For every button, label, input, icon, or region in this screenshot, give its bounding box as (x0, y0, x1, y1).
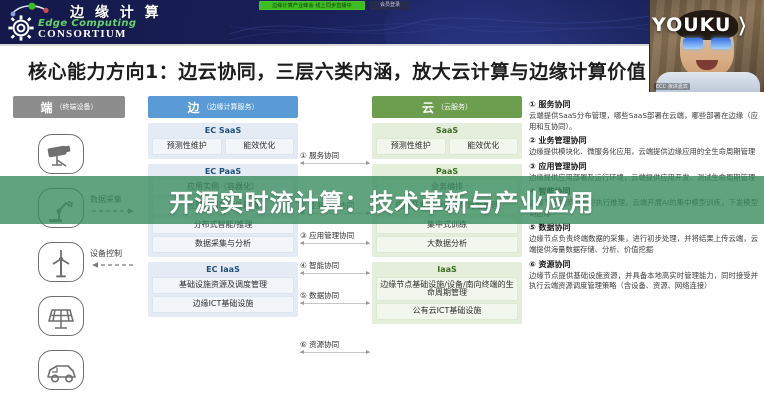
cloud-saas-title: SaaS (376, 126, 518, 135)
vehicle-icon (44, 355, 80, 387)
column-terminal-title: 端 (40, 99, 52, 116)
column-edge-subtitle: （边缘计算服务） (203, 102, 259, 112)
device-camera (38, 134, 84, 174)
connector-intelligence-label: ④ 智能协同 (300, 260, 370, 271)
column-terminal-subtitle: （终端设备） (56, 102, 98, 112)
promo-banner-text: 边缘计算产业峰会 线上同步直播中 (260, 2, 364, 10)
panel-item-data: ⑤ 数据协同 边缘节点负责终端数据的采集，进行初步处理，并将结果上传云端，云端提… (529, 222, 758, 255)
collaboration-connectors: ① 服务协同 ② 业务管理协同 ③ 应用管理协同 ④ 智能协同 ⑤ 数据协同 ⑥… (300, 96, 370, 396)
column-terminal: 端 （终端设备） 数据采集 (10, 96, 130, 396)
connector-data-label: ⑤ 数据协同 (300, 290, 370, 301)
column-edge-header: 边 （边缘计算服务） (148, 96, 298, 118)
device-wind-turbine (38, 242, 84, 282)
cloud-saas-items: 预测性维护 能效优化 (376, 138, 518, 155)
slide-screenshot: 边 缘 计 算 Edge Computing CONSORTIUM 边缘计算产业… (0, 0, 764, 400)
collaboration-description-panel: ① 服务协同 云端提供SaaS分布管理，哪些SaaS部署在云端，哪些部署在边缘（… (525, 96, 764, 400)
logo-english-line2: CONSORTIUM (38, 28, 127, 40)
connector-intelligence: ④ 智能协同 (300, 260, 370, 274)
connector-app-mgmt-arrow-icon (300, 243, 370, 244)
page-title: 核心能力方向1：边云协同，三层六类内涵，放大云计算与边缘计算价值 (0, 49, 649, 91)
edge-saas-title: EC SaaS (152, 126, 294, 135)
panel-body: 边缘提供模块化、微服务化应用，云端提供边缘应用的全生命周期管理 (529, 147, 758, 158)
connector-data-arrow-icon (300, 303, 370, 304)
cloud-saas-item: 预测性维护 (376, 138, 446, 155)
edge-saas-item: 预测性维护 (152, 138, 222, 155)
solar-panel-icon (44, 301, 80, 333)
gear-icon (8, 15, 34, 41)
camera-icon (44, 139, 80, 171)
edge-iaas-title: EC IaaS (152, 265, 294, 274)
connector-service: ① 服务协同 (300, 150, 370, 164)
promo-banner-chip[interactable]: 边缘计算产业峰会 线上同步直播中 (259, 1, 365, 10)
panel-heading: ⑥ 资源协同 (529, 259, 758, 270)
connector-resource: ⑥ 资源协同 (300, 339, 370, 353)
panel-heading: ① 服务协同 (529, 99, 758, 110)
column-cloud-subtitle: （云服务） (437, 102, 472, 112)
panel-body: 云端提供SaaS分布管理，哪些SaaS部署在云端，哪些部署在边缘（应用和互协同）… (529, 111, 758, 132)
cloud-iaas-group: IaaS 边缘节点基础设施/设备/南向终端的生命周期管理 公有云ICT基础设施 (372, 262, 522, 324)
cloud-iaas-item: 边缘节点基础设施/设备/南向终端的生命周期管理 (376, 277, 518, 301)
cloud-paas-item: 大数据分析 (376, 236, 518, 253)
connector-service-arrow-icon (300, 163, 370, 164)
video-title-text: 开源实时流计算：技术革新与产业应用 (170, 183, 595, 218)
cloud-saas-item: 能效优化 (449, 138, 519, 155)
ecc-logo[interactable]: 边 缘 计 算 Edge Computing CONSORTIUM (6, 1, 216, 43)
edge-saas-item: 能效优化 (225, 138, 295, 155)
column-cloud-header: 云 （云服务） (372, 96, 522, 118)
video-title-overlay: 开源实时流计算：技术革新与产业应用 (0, 176, 764, 224)
terminal-label-device-control: 设备控制 (90, 248, 122, 259)
column-edge-title: 边 (187, 99, 199, 116)
edge-iaas-group: EC IaaS 基础设施资源及调度管理 边缘ICT基础设施 (148, 262, 298, 317)
member-login-chip[interactable]: 会员登录 (370, 1, 410, 10)
device-solar-panel (38, 296, 84, 336)
panel-body: 边缘节点提供基础设施资源，并具备本地高实时管理能力，同时接受并执行云端资源调度管… (529, 271, 758, 292)
speaker-glasses-icon (683, 38, 731, 49)
cloud-paas-title: PaaS (376, 167, 518, 176)
header-wave-decoration (230, 6, 650, 44)
panel-item-resource: ⑥ 资源协同 边缘节点提供基础设施资源，并具备本地高实时管理能力，同时接受并执行… (529, 259, 758, 292)
connector-resource-label: ⑥ 资源协同 (300, 339, 370, 350)
connector-app-mgmt: ③ 应用管理协同 (300, 230, 370, 244)
column-terminal-header: 端 （终端设备） (13, 96, 125, 118)
device-control-arrow-icon (88, 260, 138, 270)
panel-item-service: ① 服务协同 云端提供SaaS分布管理，哪些SaaS部署在云端，哪些部署在边缘（… (529, 99, 758, 132)
edge-iaas-item: 边缘ICT基础设施 (152, 296, 294, 313)
chevron-right-icon: ❭ (736, 14, 750, 36)
connector-resource-arrow-icon (300, 352, 370, 353)
cloud-iaas-title: IaaS (376, 265, 518, 274)
youku-watermark: YOUKU❭ (652, 14, 751, 36)
panel-body: 边缘节点负责终端数据的采集，进行初步处理，并将结果上传云端，云端提供海量数据存储… (529, 234, 758, 255)
panel-heading: ② 业务管理协同 (529, 135, 758, 146)
panel-item-business-mgmt: ② 业务管理协同 边缘提供模块化、微服务化应用，云端提供边缘应用的全生命周期管理 (529, 135, 758, 158)
column-cloud-title: 云 (422, 99, 434, 116)
edge-paas-title: EC PaaS (152, 167, 294, 176)
wind-turbine-icon (44, 247, 80, 279)
cloud-saas-group: SaaS 预测性维护 能效优化 (372, 123, 522, 159)
connector-intelligence-arrow-icon (300, 273, 370, 274)
edge-paas-item: 数据采集与分析 (152, 236, 294, 253)
connector-app-mgmt-label: ③ 应用管理协同 (300, 230, 370, 241)
panel-heading: ③ 应用管理协同 (529, 161, 758, 172)
edge-iaas-item: 基础设施资源及调度管理 (152, 277, 294, 294)
connector-data: ⑤ 数据协同 (300, 290, 370, 304)
edge-saas-items: 预测性维护 能效优化 (152, 138, 294, 155)
connector-service-label: ① 服务协同 (300, 150, 370, 161)
cloud-iaas-item: 公有云ICT基础设施 (376, 303, 518, 320)
speaker-caption: ECC 演讲嘉宾 (654, 83, 690, 90)
member-login-text: 会员登录 (370, 1, 410, 10)
edge-saas-group: EC SaaS 预测性维护 能效优化 (148, 123, 298, 159)
youku-watermark-text: YOUKU (652, 14, 731, 36)
panel-heading: ⑤ 数据协同 (529, 222, 758, 233)
device-vehicle (38, 350, 84, 390)
